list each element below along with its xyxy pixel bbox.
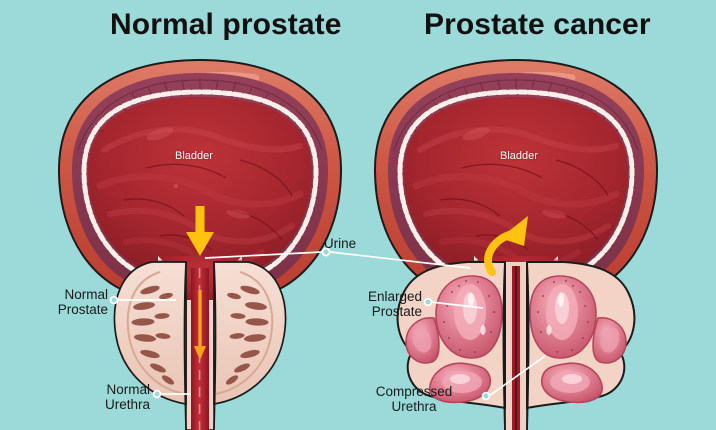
bladder-left	[59, 60, 341, 300]
title-left: Normal prostate	[110, 10, 342, 40]
callout-compressed-urethra: Compressed Urethra	[352, 384, 476, 414]
dot-normal-urethra	[154, 391, 161, 398]
callout-normal-prostate: Normal Prostate	[24, 287, 108, 317]
title-right: Prostate cancer	[424, 10, 651, 40]
anatomy-illustration	[0, 0, 716, 430]
dot-compressed-urethra	[483, 393, 490, 400]
dot-enlarged-prostate	[425, 299, 432, 306]
right-diagram-prostate-cancer	[375, 60, 657, 430]
bladder-label-right: Bladder	[500, 150, 538, 162]
callout-enlarged-prostate: Enlarged Prostate	[338, 289, 422, 319]
callout-urine: Urine	[312, 236, 368, 251]
diagram-canvas: Normal prostate Prostate cancer Bladder …	[0, 0, 716, 430]
bladder-label-left: Bladder	[175, 150, 213, 162]
callout-normal-urethra: Normal Urethra	[60, 382, 150, 412]
dot-normal-prostate	[111, 297, 118, 304]
